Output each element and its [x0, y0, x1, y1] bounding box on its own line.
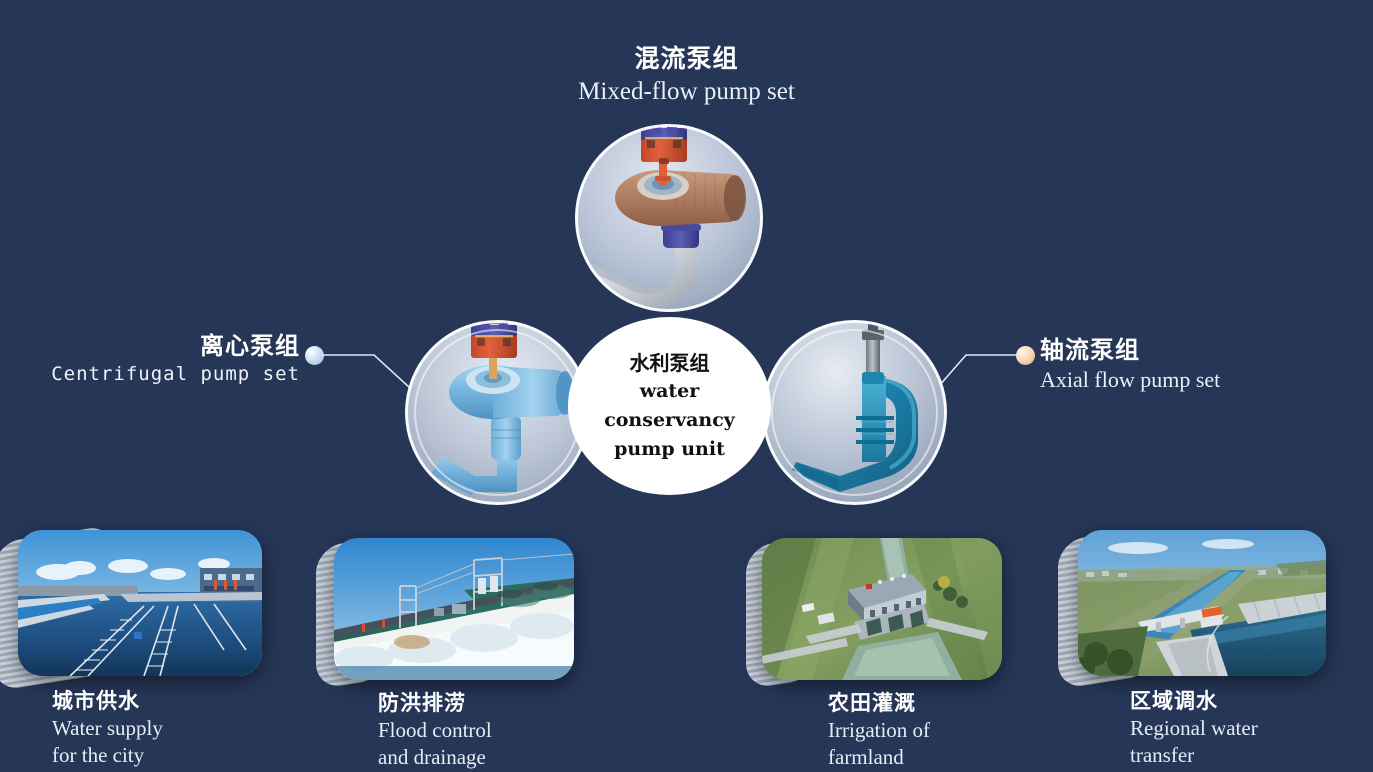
photo-dam-spillway-discharge — [334, 538, 574, 680]
connector-dot-right — [1016, 346, 1035, 365]
label-centrifugal-cn: 离心泵组 — [0, 332, 300, 360]
caption-flood-control-cn: 防洪排涝 — [378, 690, 492, 717]
ring-outline-top — [575, 124, 763, 312]
ring-outline-left-inner — [414, 329, 581, 496]
caption-water-supply-en2: for the city — [52, 742, 163, 769]
infographic-canvas: 混流泵组 Mixed-flow pump set 离心泵组 Centrifuga… — [0, 0, 1373, 772]
center-title-cn: 水利泵组 — [630, 350, 710, 376]
pump-image-axial-flow — [762, 320, 947, 505]
caption-irrigation-en2: farmland — [828, 744, 930, 771]
center-title-en-line3: pump unit — [614, 436, 725, 463]
photo-aerial-water-transfer-canal — [1078, 530, 1326, 676]
application-card-water-supply[interactable] — [0, 524, 262, 676]
label-mixed-flow: 混流泵组 Mixed-flow pump set — [0, 44, 1373, 108]
label-axial-flow: 轴流泵组 Axial flow pump set — [1040, 335, 1370, 395]
label-axial-flow-cn: 轴流泵组 — [1040, 335, 1370, 365]
connector-dot-left — [305, 346, 324, 365]
caption-irrigation-cn: 农田灌溉 — [828, 690, 930, 717]
application-card-irrigation[interactable] — [748, 534, 1004, 680]
label-mixed-flow-cn: 混流泵组 — [0, 44, 1373, 74]
caption-water-transfer: 区域调水 Regional water transfer — [1130, 688, 1258, 769]
caption-flood-control-en1: Flood control — [378, 717, 492, 744]
caption-irrigation-en1: Irrigation of — [828, 717, 930, 744]
center-hub: 水利泵组 water conservancy pump unit — [568, 317, 771, 495]
center-title-en-line1: water — [640, 378, 700, 405]
application-card-water-transfer[interactable] — [1062, 524, 1318, 676]
caption-flood-control: 防洪排涝 Flood control and drainage — [378, 690, 492, 771]
caption-water-transfer-en2: transfer — [1130, 742, 1258, 769]
caption-water-transfer-cn: 区域调水 — [1130, 688, 1258, 715]
caption-water-supply: 城市供水 Water supply for the city — [52, 688, 163, 769]
pump-image-mixed-flow — [575, 124, 763, 312]
label-mixed-flow-en: Mixed-flow pump set — [0, 76, 1373, 108]
photo-water-treatment-basin — [18, 530, 262, 676]
caption-water-supply-en1: Water supply — [52, 715, 163, 742]
caption-flood-control-en2: and drainage — [378, 744, 492, 771]
caption-water-transfer-en1: Regional water — [1130, 715, 1258, 742]
application-card-flood-control[interactable] — [318, 534, 574, 680]
caption-water-supply-cn: 城市供水 — [52, 688, 163, 715]
caption-irrigation: 农田灌溉 Irrigation of farmland — [828, 690, 930, 771]
center-title-en-line2: conservancy — [604, 407, 735, 434]
label-axial-flow-en: Axial flow pump set — [1040, 365, 1370, 395]
pump-image-centrifugal — [405, 320, 590, 505]
photo-aerial-pump-station-farmland — [762, 538, 1002, 680]
ring-outline-right-inner — [771, 329, 938, 496]
label-centrifugal: 离心泵组 Centrifugal pump set — [0, 332, 300, 388]
label-centrifugal-en: Centrifugal pump set — [0, 360, 300, 388]
